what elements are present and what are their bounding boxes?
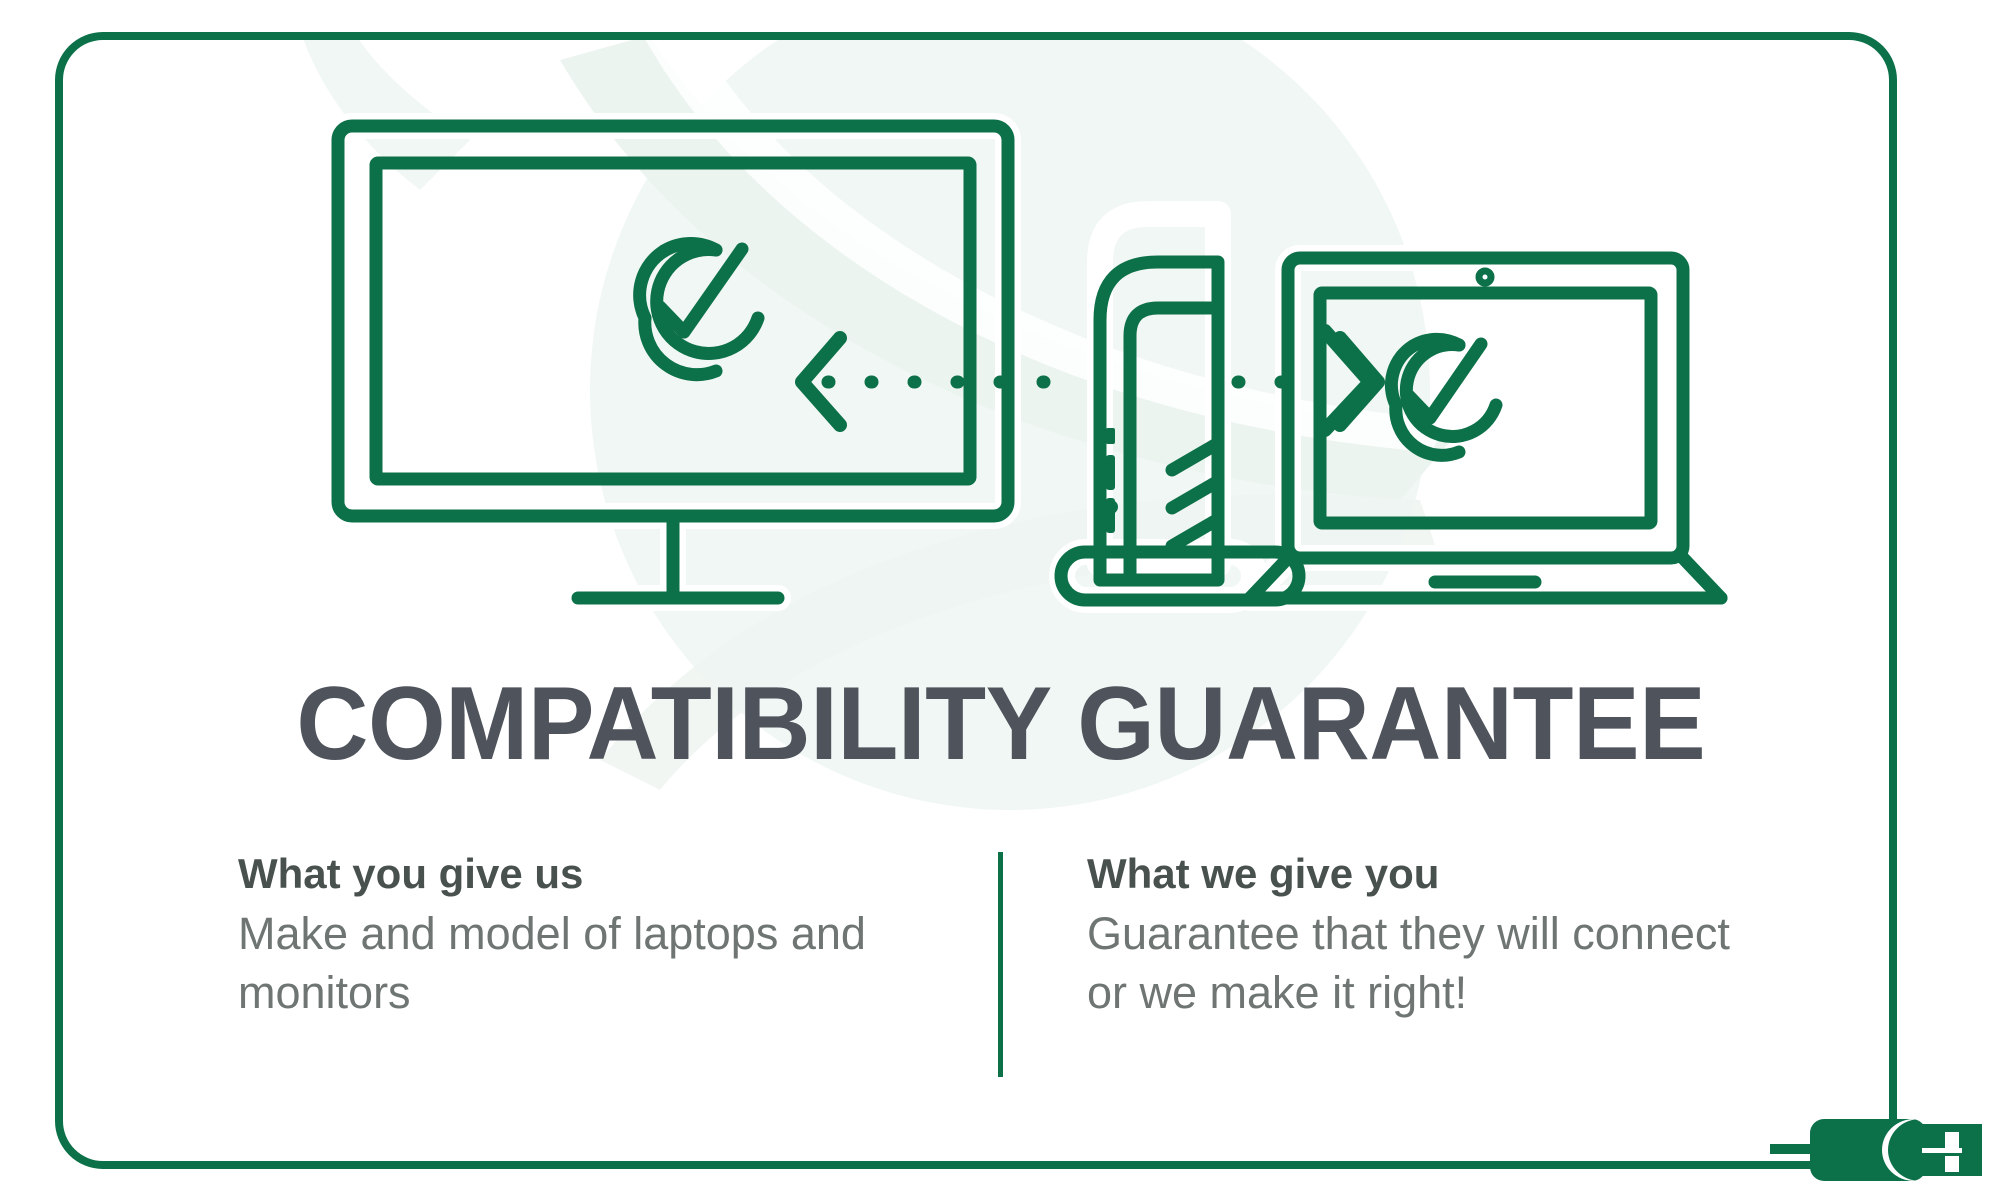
column-what-you-give: What you give us Make and model of lapto… [238,848,998,1078]
dock-port-slots [1106,428,1115,533]
docking-station-icon [1061,262,1299,600]
page-title: COMPATIBILITY GUARANTEE [0,672,2001,776]
column-right-title: What we give you [1087,848,1763,899]
usb-plug-logo-icon [1770,1104,2001,1201]
column-left-body: Make and model of laptops and monitors [238,905,958,1022]
page-title-text: COMPATIBILITY GUARANTEE [296,672,1705,776]
circle-check-icon-laptop [1391,339,1496,455]
infographic-card: COMPATIBILITY GUARANTEE What you give us… [0,0,2001,1201]
circle-check-icon-monitor [640,244,758,375]
laptop-webcam-icon [1479,271,1491,283]
column-right-body: Guarantee that they will connect or we m… [1087,905,1763,1022]
column-left-title: What you give us [238,848,958,899]
hero-illustration [0,0,2001,620]
value-prop-columns: What you give us Make and model of lapto… [238,848,1798,1078]
column-what-we-give: What we give you Guarantee that they wil… [1003,848,1763,1078]
